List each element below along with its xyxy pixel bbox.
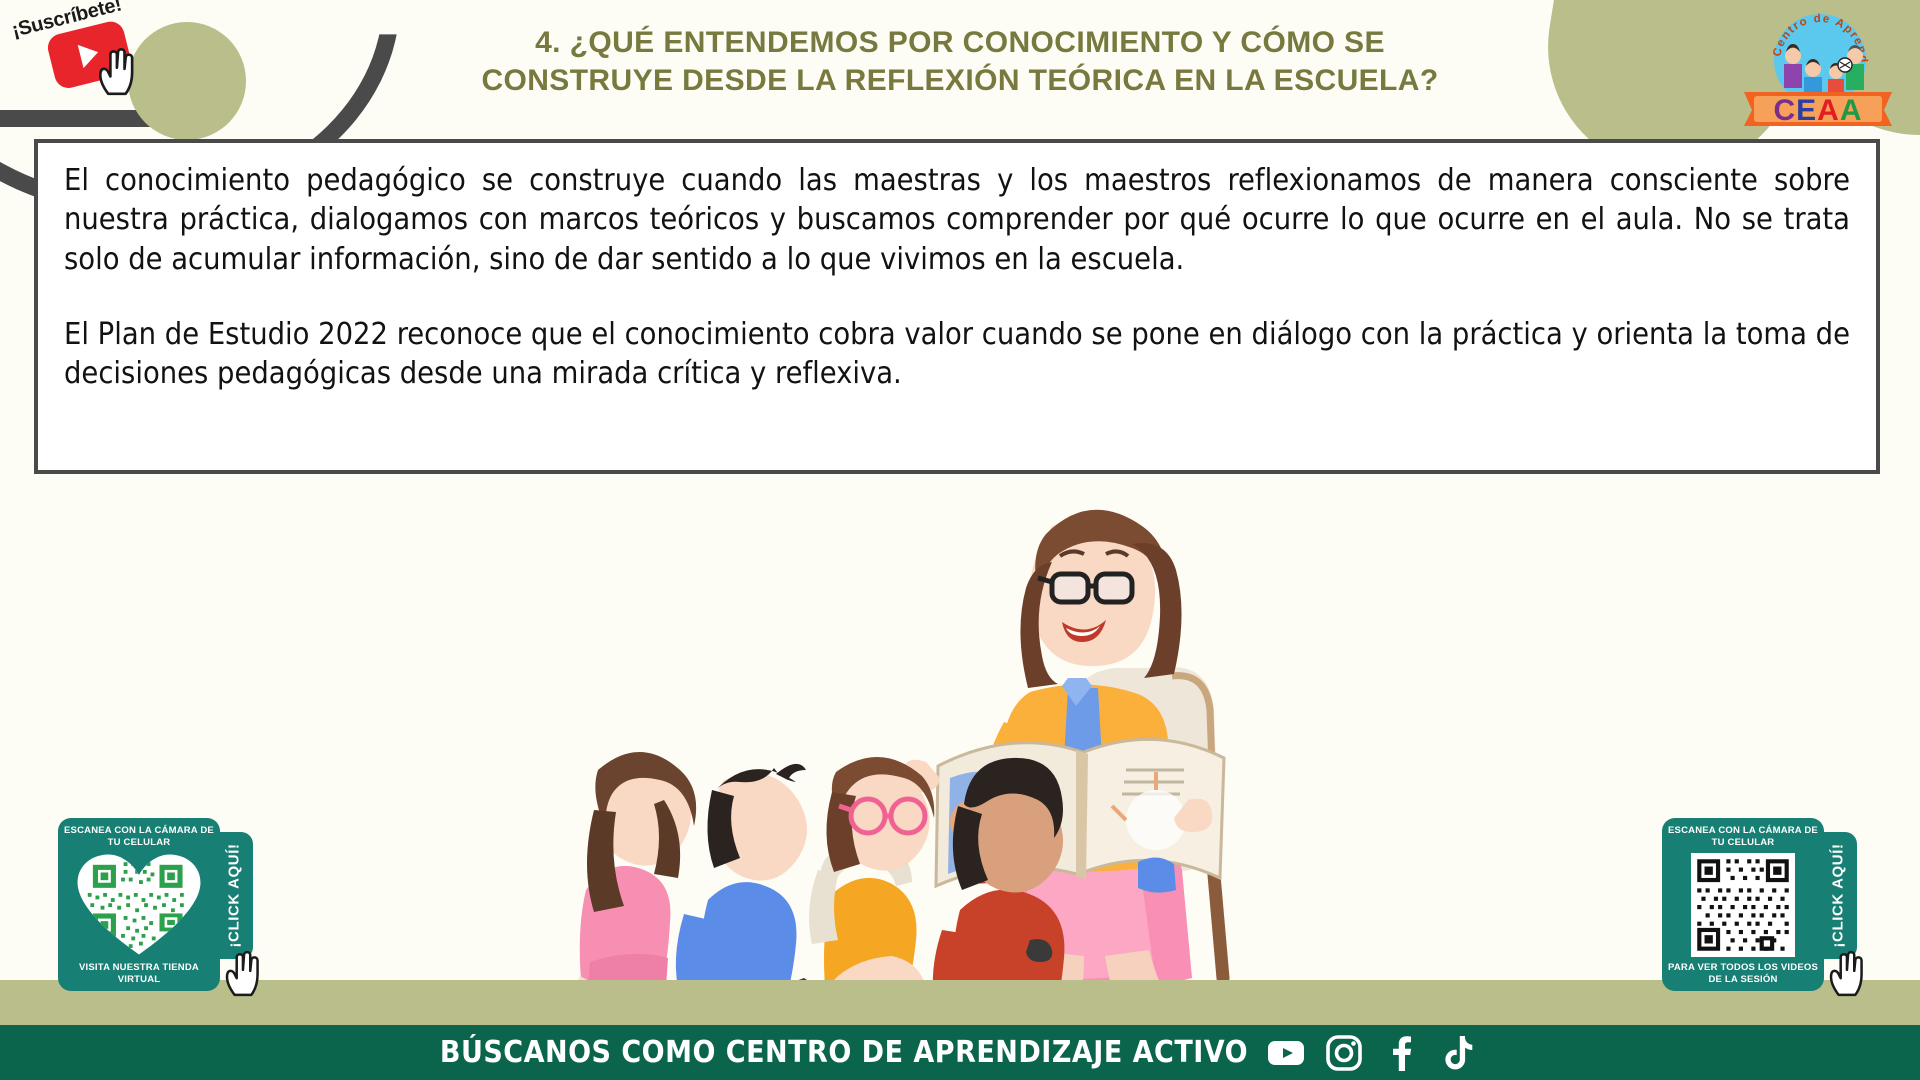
qr-store-click-tab[interactable]: ¡CLICK AQUÍ!	[216, 832, 253, 959]
page-title: 4. ¿QUÉ ENTENDEMOS POR CONOCIMIENTO Y CÓ…	[380, 24, 1540, 100]
qr-videos-bottom-text: PARA VER TODOS LOS VIDEOS DE LA SESIÓN	[1668, 962, 1818, 985]
qr-badge-videos[interactable]: ESCANEA CON LA CÁMARA DE TU CELULAR	[1662, 818, 1857, 991]
qr-store-bottom-text: VISITA NUESTRA TIENDA VIRTUAL	[64, 962, 214, 985]
pointer-hand-icon	[96, 46, 140, 96]
body-paragraph-2: El Plan de Estudio 2022 reconoce que el …	[64, 315, 1850, 394]
svg-text:CEAA: CEAA	[1773, 94, 1862, 127]
qr-code-heart[interactable]	[68, 852, 210, 957]
pointer-hand-icon	[1825, 949, 1871, 997]
ground-band	[0, 980, 1920, 1025]
instagram-icon[interactable]	[1324, 1033, 1364, 1073]
qr-store-click-label: ¡CLICK AQUÍ!	[226, 844, 243, 948]
footer-bar: BÚSCANOS COMO CENTRO DE APRENDIZAJE ACTI…	[0, 1025, 1920, 1080]
facebook-icon[interactable]	[1382, 1033, 1422, 1073]
child-boy-blue	[676, 764, 834, 1015]
page-title-line2: CONSTRUYE DESDE LA REFLEXIÓN TEÓRICA EN …	[380, 62, 1540, 100]
youtube-icon[interactable]	[1266, 1033, 1306, 1073]
qr-videos-click-tab[interactable]: ¡CLICK AQUÍ!	[1820, 832, 1857, 959]
qr-badge-store[interactable]: ESCANEA CON LA CÁMARA DE TU CELULAR	[58, 818, 253, 991]
qr-code-square[interactable]	[1672, 852, 1814, 957]
ceaa-logo: Centro de Aprendizaje Activo CEAA	[1738, 6, 1898, 128]
tiktok-icon[interactable]	[1440, 1033, 1480, 1073]
qr-card-videos: ESCANEA CON LA CÁMARA DE TU CELULAR	[1662, 818, 1824, 991]
classroom-illustration	[560, 470, 1390, 1015]
child-girl-orange-overalls	[809, 757, 934, 1015]
slide-root: ¡Suscríbete! Centro de Aprendizaje Activ…	[0, 0, 1920, 1080]
pointer-hand-icon	[221, 949, 267, 997]
body-paragraph-1: El conocimiento pedagógico se construye …	[64, 161, 1850, 279]
qr-videos-click-label: ¡CLICK AQUÍ!	[1830, 844, 1847, 948]
footer-text: BÚSCANOS COMO CENTRO DE APRENDIZAJE ACTI…	[440, 1035, 1248, 1070]
decorative-sage-circle	[128, 22, 246, 140]
page-title-line1: 4. ¿QUÉ ENTENDEMOS POR CONOCIMIENTO Y CÓ…	[380, 24, 1540, 62]
qr-store-top-text: ESCANEA CON LA CÁMARA DE TU CELULAR	[64, 825, 214, 848]
content-textbox: El conocimiento pedagógico se construye …	[34, 139, 1880, 474]
qr-videos-top-text: ESCANEA CON LA CÁMARA DE TU CELULAR	[1668, 825, 1818, 848]
qr-card-store: ESCANEA CON LA CÁMARA DE TU CELULAR	[58, 818, 220, 991]
